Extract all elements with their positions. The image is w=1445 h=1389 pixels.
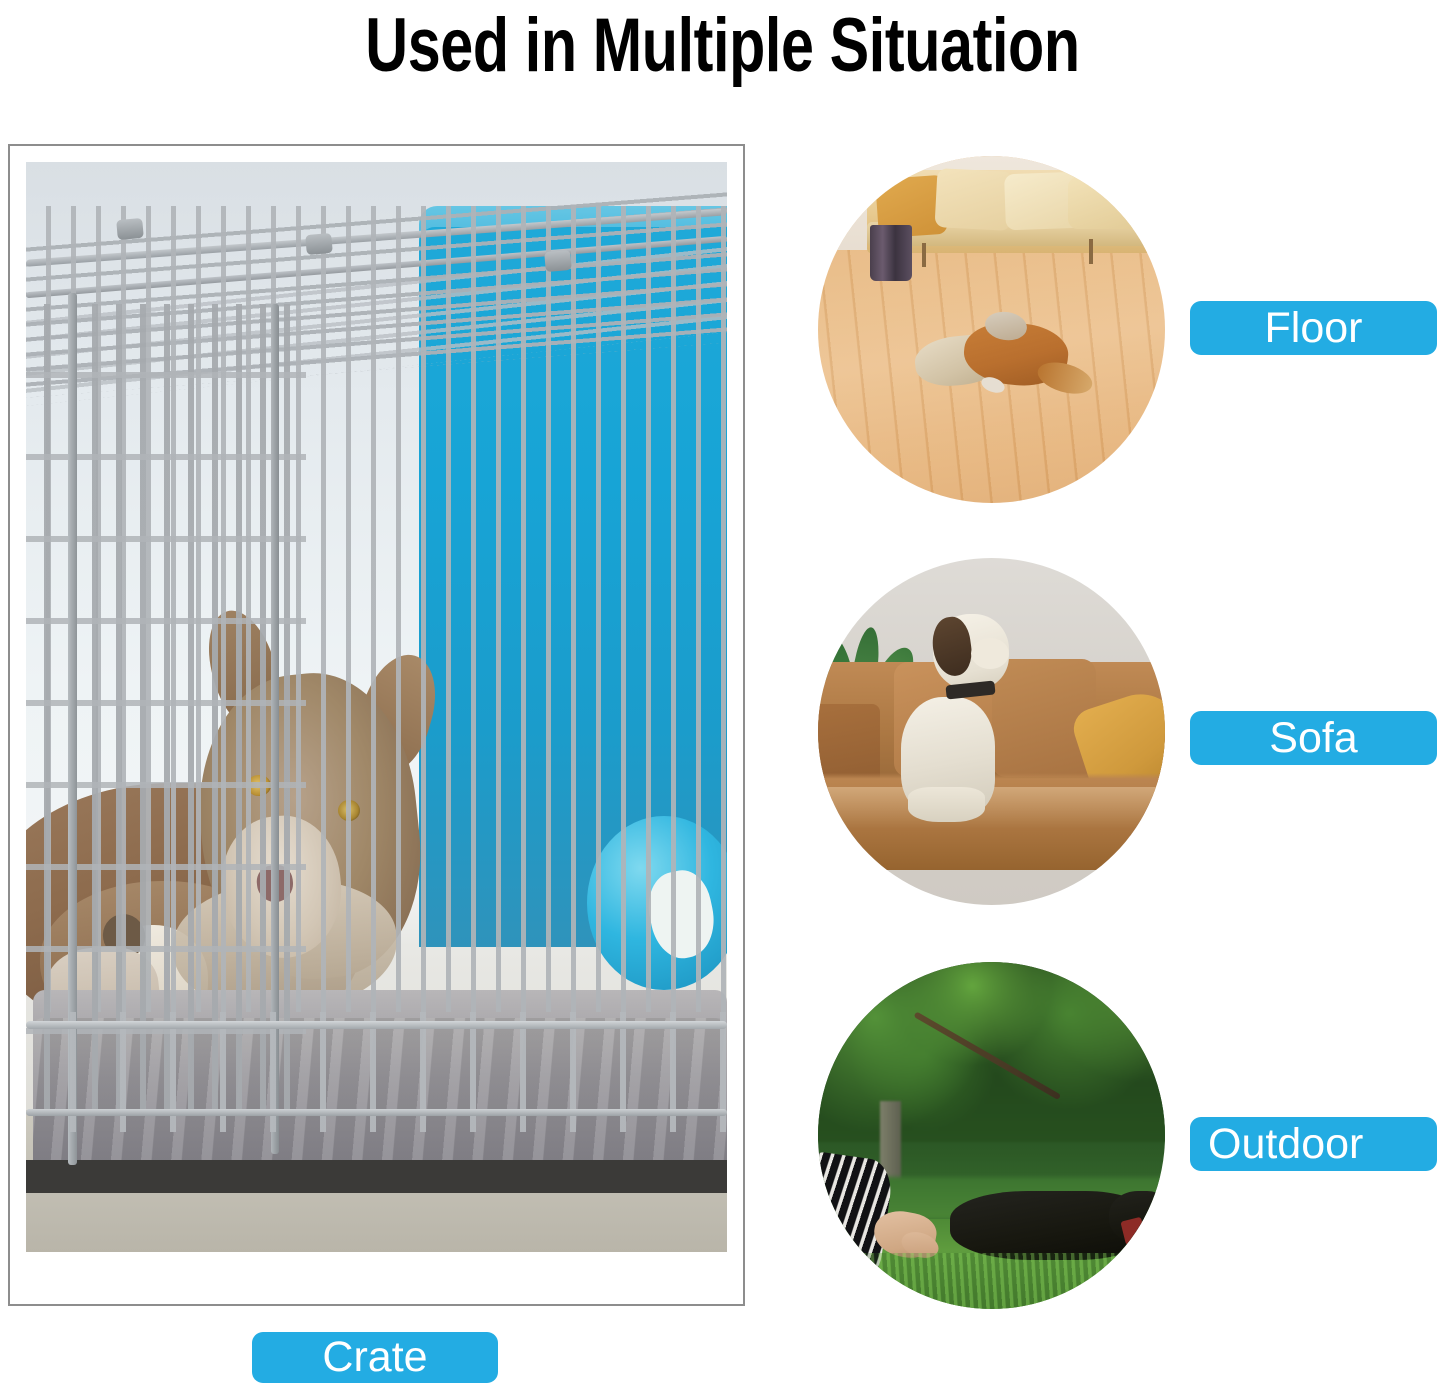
floor-scene-trash-bin <box>870 225 912 281</box>
crate-clip-1 <box>116 218 144 240</box>
outdoor-scene-grass-blades <box>818 1253 1165 1309</box>
badge-floor: Floor <box>1190 301 1437 355</box>
floor-scene-cushion-2 <box>934 168 1013 231</box>
badge-crate: Crate <box>252 1332 498 1383</box>
situation-photo-outdoor <box>818 962 1165 1309</box>
outdoor-scene-tree-canopy <box>818 962 1165 1142</box>
crate-clip-2 <box>306 233 334 255</box>
crate-front-rail-upper <box>26 1021 727 1029</box>
badge-crate-label: Crate <box>322 1333 427 1382</box>
page-title: Used in Multiple Situation <box>159 0 1286 92</box>
badge-sofa-label: Sofa <box>1269 714 1357 763</box>
crate-front-rail-lower <box>26 1109 727 1116</box>
sofa-scene-dog-snout <box>971 638 1009 669</box>
crate-clip-3 <box>544 250 572 272</box>
floor-scene-cushion-4 <box>1068 177 1144 229</box>
floor-scene-sofa-leg-2 <box>1089 239 1093 263</box>
situation-photo-floor <box>818 156 1165 503</box>
crate-photo <box>26 162 727 1252</box>
situation-photo-sofa <box>818 558 1165 905</box>
badge-outdoor-label: Outdoor <box>1208 1120 1363 1169</box>
badge-floor-label: Floor <box>1265 304 1363 353</box>
badge-outdoor: Outdoor <box>1190 1117 1437 1171</box>
badge-sofa: Sofa <box>1190 711 1437 765</box>
crate-photo-frame <box>8 144 745 1306</box>
crate-tray <box>26 1160 727 1193</box>
sofa-scene-dog-legs <box>908 787 984 822</box>
floor-scene-sofa-leg-1 <box>922 243 926 267</box>
